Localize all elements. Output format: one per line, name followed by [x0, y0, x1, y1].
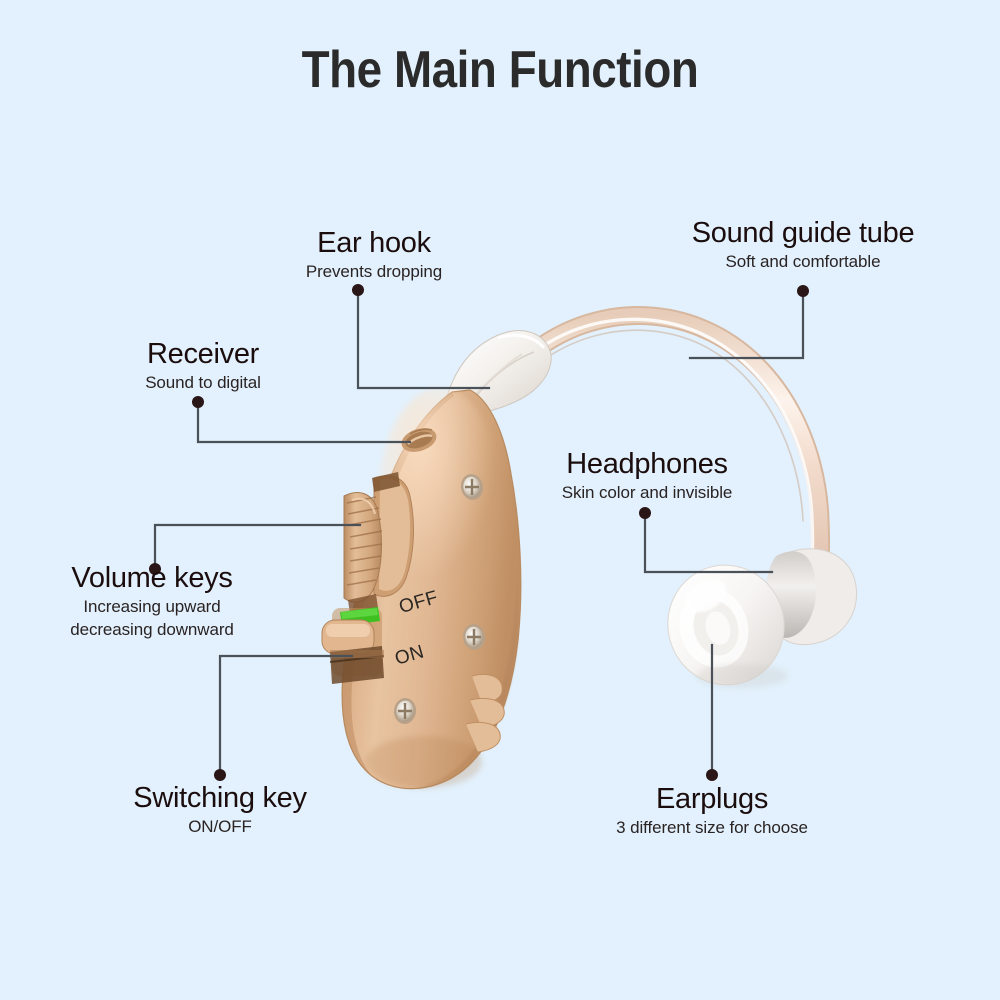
callout-subtitle-ear-hook: Prevents dropping [306, 261, 442, 283]
callout-subtitle-volume-keys-line1: Increasing upward [70, 596, 233, 618]
callout-subtitle-volume-keys-line2: decreasing downward [70, 619, 233, 641]
callout-receiver: Receiver Sound to digital [145, 339, 261, 395]
callout-title-headphones: Headphones [562, 449, 733, 479]
callout-title-ear-hook: Ear hook [306, 228, 442, 258]
callout-subtitle-headphones: Skin color and invisible [562, 482, 733, 504]
callout-subtitle-earplugs: 3 different size for choose [616, 817, 808, 839]
callout-title-switching-key: Switching key [133, 783, 306, 813]
callout-sound-guide-tube: Sound guide tube Soft and comfortable [692, 218, 915, 274]
callout-headphones: Headphones Skin color and invisible [562, 449, 733, 505]
callout-earplugs: Earplugs 3 different size for choose [616, 784, 808, 840]
callout-title-receiver: Receiver [145, 339, 261, 369]
switching-key[interactable] [322, 607, 384, 684]
callout-title-earplugs: Earplugs [616, 784, 808, 814]
infographic-canvas: The Main Function [0, 0, 1000, 1000]
callout-volume-keys: Volume keys Increasing upward decreasing… [70, 563, 233, 641]
product-illustration [0, 0, 1000, 1000]
callout-subtitle-switching-key: ON/OFF [133, 816, 306, 838]
callout-subtitle-sound-guide-tube: Soft and comfortable [692, 251, 915, 273]
callout-title-volume-keys: Volume keys [70, 563, 233, 593]
earplug-part [654, 549, 857, 699]
callout-ear-hook: Ear hook Prevents dropping [306, 228, 442, 284]
callout-subtitle-receiver: Sound to digital [145, 372, 261, 394]
callout-title-sound-guide-tube: Sound guide tube [692, 218, 915, 248]
callout-switching-key: Switching key ON/OFF [133, 783, 306, 839]
